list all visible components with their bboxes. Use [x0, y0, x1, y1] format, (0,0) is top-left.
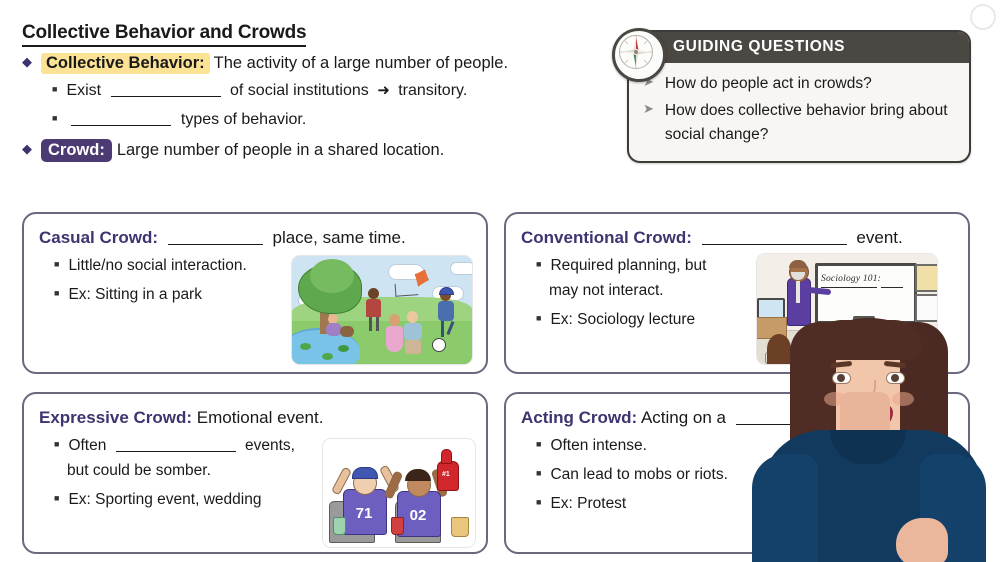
card-bullet-text: Required planning, but — [550, 256, 706, 276]
park-scene-illustration — [291, 255, 473, 365]
sub1-after-blank: of social institutions — [230, 82, 369, 99]
arrow-bullet-icon: ➤ — [643, 99, 654, 119]
guiding-questions-box: GUIDING QUESTIONS ➤ How do people act in… — [627, 30, 971, 163]
square-bullet-icon: ■ — [54, 436, 59, 453]
card-bullet-text: Ex: Protest — [550, 494, 626, 514]
sub1-before-blank: Exist — [66, 82, 101, 99]
square-bullet-icon: ■ — [536, 494, 541, 511]
guiding-question-item: ➤ How does collective behavior bring abo… — [643, 99, 955, 147]
fill-blank-line — [168, 244, 263, 245]
guiding-questions-header: GUIDING QUESTIONS — [629, 32, 969, 63]
arrow-right-icon: ➜ — [377, 82, 390, 99]
card-bullet-after-blank: events, — [245, 437, 295, 454]
list-item-crowd: ◆ Crowd:Large number of people in a shar… — [22, 139, 607, 161]
card-bullet: ■ Ex: Protest — [536, 494, 968, 514]
card-heading-tail: place, same time. — [273, 228, 406, 247]
card-heading-term: Casual Crowd: — [39, 228, 158, 247]
square-bullet-icon: ■ — [54, 490, 59, 507]
definition-collective-behavior: The activity of a large number of people… — [214, 54, 508, 72]
slide-root: Collective Behavior and Crowds ◆ Collect… — [0, 0, 1000, 562]
card-heading: Acting Crowd: Acting on a — [521, 408, 968, 428]
square-bullet-icon: ■ — [54, 285, 59, 302]
fill-blank-line — [116, 451, 236, 452]
card-heading-term: Acting Crowd: — [521, 408, 637, 427]
fill-blank-line — [702, 244, 847, 245]
card-acting-crowd: Acting Crowd: Acting on a ■ Often intens… — [504, 392, 970, 554]
card-bullet: ■ Can lead to mobs or riots. — [536, 465, 968, 485]
diamond-bullet-icon: ◆ — [22, 139, 32, 159]
square-bullet-icon: ■ — [536, 436, 541, 453]
compass-rose-icon — [612, 28, 666, 82]
card-bullet-before-blank: Often — [68, 437, 106, 454]
sub2-after-blank: types of behavior. — [181, 111, 306, 128]
card-heading: Conventional Crowd: event. — [521, 228, 968, 248]
guiding-question-item: ➤ How do people act in crowds? — [643, 72, 955, 96]
guiding-question-text: How do people act in crowds? — [665, 72, 872, 96]
card-bullet-text: Ex: Sporting event, wedding — [68, 490, 261, 510]
foam-finger-text: #1 — [442, 471, 450, 478]
list-item-collective-behavior: ◆ Collective Behavior:The activity of a … — [22, 52, 607, 74]
definition-crowd: Large number of people in a shared locat… — [117, 141, 444, 159]
card-heading-term: Expressive Crowd: — [39, 408, 192, 427]
fill-blank-line — [111, 96, 221, 97]
square-bullet-icon: ■ — [52, 81, 57, 98]
guiding-question-text: How does collective behavior bring about… — [665, 99, 955, 147]
classroom-lecture-illustration: Sociology 101: — [756, 253, 938, 365]
card-bullet-text: Can lead to mobs or riots. — [550, 465, 727, 485]
card-bullet-text: Ex: Sociology lecture — [550, 310, 695, 330]
sub1-tail: transitory. — [398, 82, 467, 99]
square-bullet-icon: ■ — [536, 256, 541, 273]
fill-blank-line — [71, 125, 171, 126]
sports-fans-illustration: 71 02 #1 — [322, 438, 476, 548]
card-heading-term: Conventional Crowd: — [521, 228, 692, 247]
sublist-item-types: ■ types of behavior. — [52, 110, 607, 131]
top-bullet-list: ◆ Collective Behavior:The activity of a … — [22, 52, 607, 168]
card-heading-tail: Emotional event. — [197, 408, 324, 427]
page-title: Collective Behavior and Crowds — [22, 22, 306, 47]
square-bullet-icon: ■ — [536, 465, 541, 482]
card-bullet-list: ■ Often intense. ■ Can lead to mobs or r… — [536, 436, 968, 513]
circle-watermark-icon — [970, 4, 996, 30]
card-heading: Casual Crowd: place, same time. — [39, 228, 486, 248]
term-collective-behavior: Collective Behavior: — [41, 53, 210, 74]
sublist-item-exist: ■ Exist of social institutions ➜ transit… — [52, 81, 607, 102]
square-bullet-icon: ■ — [54, 256, 59, 273]
card-bullet-text: Ex: Sitting in a park — [68, 285, 202, 305]
whiteboard-text: Sociology 101: — [821, 274, 907, 284]
card-bullet: ■ Often intense. — [536, 436, 968, 456]
jersey-number: 71 — [343, 505, 385, 522]
square-bullet-icon: ■ — [536, 310, 541, 327]
guiding-questions-body: ➤ How do people act in crowds? ➤ How doe… — [629, 63, 969, 161]
card-bullet-text: Often intense. — [550, 436, 647, 456]
card-heading-before-blank: Acting on a — [641, 408, 726, 427]
square-bullet-icon: ■ — [52, 110, 57, 127]
card-heading-tail: event. — [856, 228, 902, 247]
fill-blank-line — [736, 424, 861, 425]
diamond-bullet-icon: ◆ — [22, 52, 32, 72]
term-crowd-badge: Crowd: — [41, 139, 112, 162]
card-bullet-text: Little/no social interaction. — [68, 256, 246, 276]
card-heading: Expressive Crowd: Emotional event. — [39, 408, 486, 428]
